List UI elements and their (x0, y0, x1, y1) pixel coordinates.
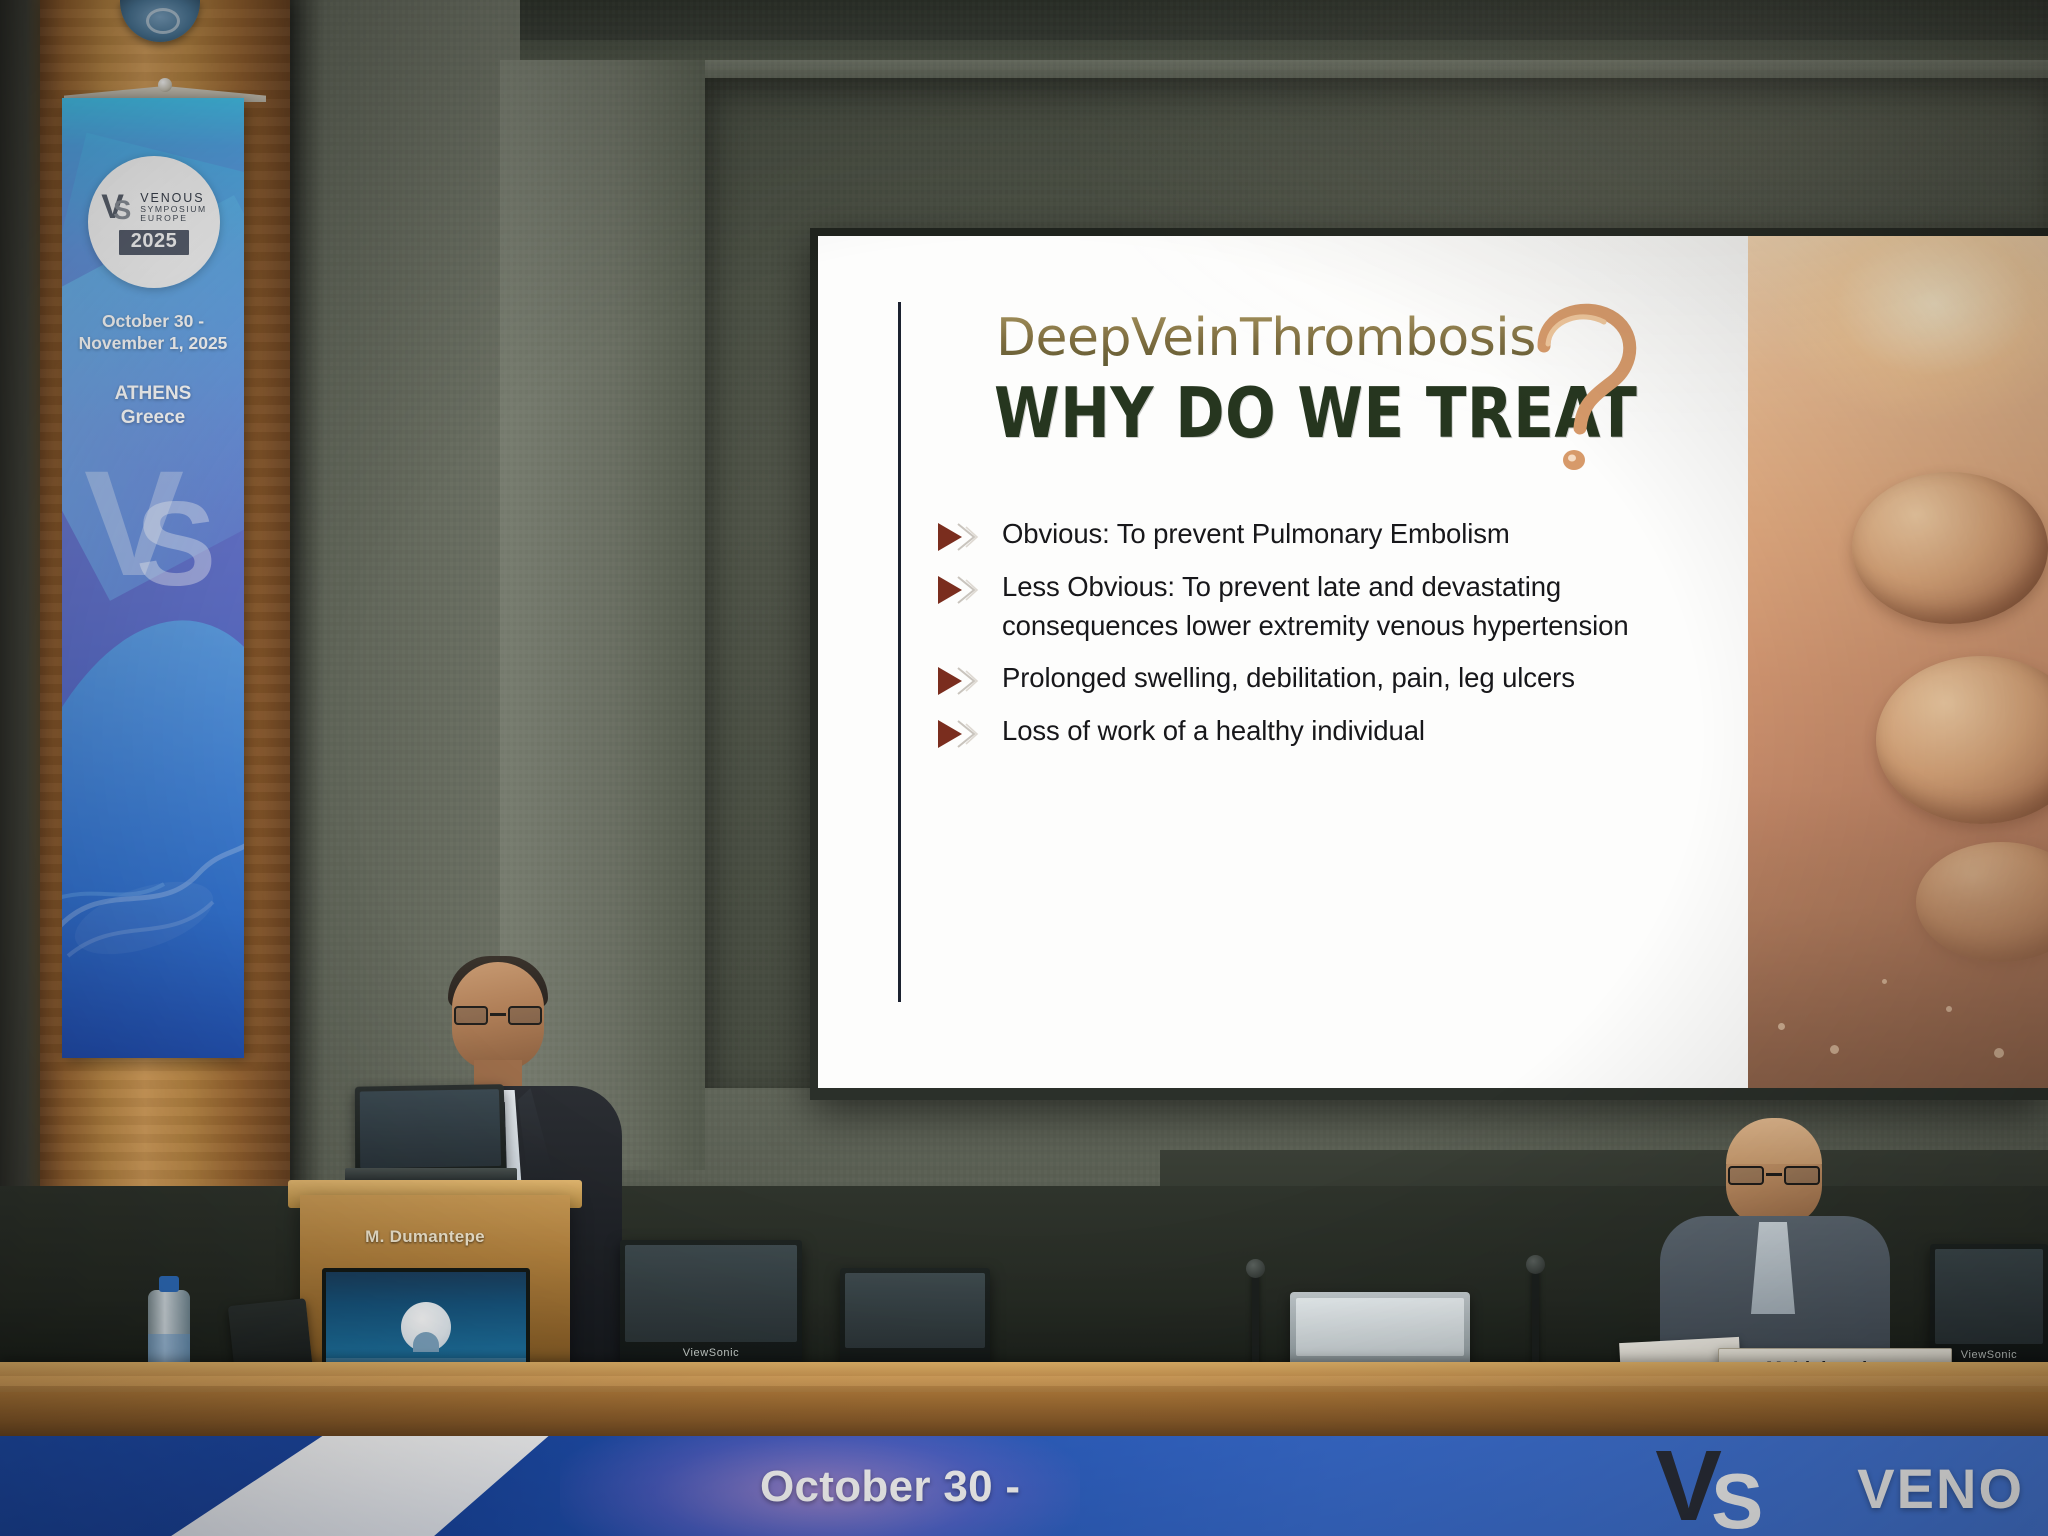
logo-word-europe: EUROPE (140, 214, 206, 223)
desk-microphone-1 (1252, 1272, 1259, 1368)
sand-speck (1830, 1045, 1839, 1054)
panelist-glasses-icon (1728, 1166, 1820, 1186)
bottom-logo-wordmark: VENO (1857, 1456, 2024, 1521)
glasses-bridge (490, 1013, 506, 1016)
speaker-glasses-icon (454, 1006, 542, 1026)
sand-speck (1882, 979, 1887, 984)
banner-large-vs-mark-icon: V S (78, 458, 238, 628)
sand-speck (1946, 1006, 1952, 1012)
slide-vertical-rule (898, 302, 901, 1002)
banner-pin-icon (158, 78, 172, 92)
sand-speck (1778, 1023, 1785, 1030)
bullet-text: Less Obvious: To prevent late and devast… (1002, 567, 1629, 645)
question-mark-icon (1518, 294, 1648, 484)
slide-photo-balanced-stones (1748, 236, 2048, 1088)
bullet-line-1: Loss of work of a healthy individual (1002, 715, 1425, 746)
left-edge-trim (0, 0, 44, 1350)
presentation-slide: DeepVeinThrombosis WHY DO WE TREAT Obvio… (818, 236, 2048, 1088)
desk-monitor-3: ViewSonic (1930, 1244, 2048, 1364)
banner-date-line2: November 1, 2025 (62, 332, 244, 354)
monitor-panel (845, 1273, 985, 1348)
lectern-nameplate: M. Dumantepe (330, 1224, 520, 1250)
lectern-laptop-screen (360, 1089, 501, 1168)
glasses-lens-left (1728, 1166, 1764, 1185)
banner-country-name: Greece (62, 406, 244, 430)
logo-s-glyph: S (113, 197, 131, 223)
bullet-line-1: Prolonged swelling, debilitation, pain, … (1002, 662, 1575, 693)
arrow-bullet-icon (936, 664, 982, 698)
glasses-lens-left (454, 1006, 488, 1025)
banner-logo: V S VENOUS SYMPOSIUM EUROPE 2025 (88, 156, 220, 288)
sand-foreground (1748, 788, 2048, 1088)
banner-city-name: ATHENS (62, 382, 244, 406)
vs-monogram-icon: V S (101, 192, 135, 224)
arrow-bullet-icon (936, 520, 982, 554)
arrow-bullet-icon (936, 573, 982, 607)
stone-top (1852, 472, 2048, 624)
bullet-text: Obvious: To prevent Pulmonary Embolism (1002, 514, 1510, 553)
bottom-banner-date: October 30 - (760, 1462, 1020, 1512)
glasses-lens-right (508, 1006, 542, 1025)
banner-dates: October 30 - November 1, 2025 (62, 310, 244, 355)
desk-edge-light (0, 1376, 2048, 1386)
bullet-text: Prolonged swelling, debilitation, pain, … (1002, 658, 1575, 697)
slide-title-subject: DeepVeinThrombosis (996, 308, 1536, 368)
logo-row: V S VENOUS SYMPOSIUM EUROPE (101, 192, 206, 224)
conference-photo: V S VENOUS SYMPOSIUM EUROPE 2025 October… (0, 0, 2048, 1536)
logo-year-badge: 2025 (119, 230, 190, 255)
lectern-laptop-lid (355, 1084, 506, 1172)
desk-monitor-1: ViewSonic (620, 1240, 802, 1362)
bullet-text: Loss of work of a healthy individual (1002, 711, 1425, 750)
desk-laptop (1290, 1292, 1470, 1366)
glasses-lens-right (1784, 1166, 1820, 1185)
banner-date-line1: October 30 - (62, 310, 244, 332)
monitor-panel (625, 1245, 797, 1342)
bottom-logo-s: S (1711, 1466, 1763, 1536)
monitor-brand-label: ViewSonic (620, 1347, 802, 1359)
banner-vein-illustration-icon (62, 788, 244, 1018)
glasses-bridge (1766, 1173, 1782, 1176)
monitor-panel (1935, 1249, 2043, 1344)
arrow-bullet-icon (936, 717, 982, 751)
bottom-banner-logo: V S VENO (1655, 1448, 2024, 1528)
panelist-scalp (1726, 1118, 1822, 1164)
logo-wordmark: VENOUS SYMPOSIUM EUROPE (140, 192, 206, 222)
event-banner: V S VENOUS SYMPOSIUM EUROPE 2025 October… (62, 98, 244, 1058)
desk-microphone-2 (1532, 1268, 1539, 1368)
desk-monitor-2 (840, 1268, 990, 1368)
stage-bottom-banner: October 30 - V S VENO (0, 1436, 2048, 1536)
bullet-line-2: consequences lower extremity venous hype… (1002, 606, 1629, 645)
banner-big-s: S (136, 488, 216, 600)
column-shadow (290, 0, 324, 1350)
bullet-line-1: Obvious: To prevent Pulmonary Embolism (1002, 518, 1510, 549)
banner-location: ATHENS Greece (62, 382, 244, 430)
speaker-avatar-icon (401, 1302, 451, 1352)
bullet-line-1: Less Obvious: To prevent late and devast… (1002, 571, 1561, 602)
sand-speck (1994, 1048, 2004, 1058)
bottom-vs-monogram-icon: V S (1655, 1448, 1835, 1528)
